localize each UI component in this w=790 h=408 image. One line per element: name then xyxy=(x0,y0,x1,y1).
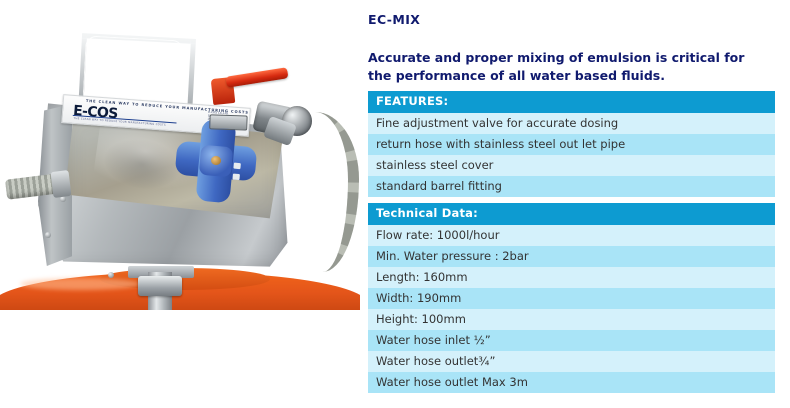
product-photo-stage: THE CLEAN WAY TO REDUCE YOUR MANUFACTURI… xyxy=(0,0,360,310)
valve-tick-mark xyxy=(232,174,239,181)
product-photo: THE CLEAN WAY TO REDUCE YOUR MANUFACTURI… xyxy=(0,0,360,408)
table-row: Min. Water pressure : 2bar xyxy=(368,246,775,267)
body-screw xyxy=(45,232,51,238)
table-row: return hose with stainless steel out let… xyxy=(368,134,775,155)
valve-nameplate xyxy=(209,114,248,130)
body-screw xyxy=(108,272,114,278)
table-row: stainless steel cover xyxy=(368,155,775,176)
table-row: Width: 190mm xyxy=(368,288,775,309)
table-row: Water hose outlet¾” xyxy=(368,351,775,372)
table-row: Length: 160mm xyxy=(368,267,775,288)
orange-barrel-highlight xyxy=(20,278,140,290)
return-hose-corrugation xyxy=(286,112,359,272)
table-row: Flow rate: 1000l/hour xyxy=(368,225,775,246)
barrel-fitting-nut xyxy=(138,276,182,296)
features-table: FEATURES: Fine adjustment valve for accu… xyxy=(368,91,775,197)
technical-data-table: Technical Data: Flow rate: 1000l/hour Mi… xyxy=(368,203,775,393)
blue-butterfly-valve-handle xyxy=(173,117,260,206)
valve-tick-mark xyxy=(233,163,240,170)
page-title: EC-MIX xyxy=(368,12,420,27)
product-spec-page: THE CLEAN WAY TO REDUCE YOUR MANUFACTURI… xyxy=(0,0,790,408)
table-row: Water hose inlet ½” xyxy=(368,330,775,351)
table-row: Height: 100mm xyxy=(368,309,775,330)
technical-data-table-header: Technical Data: xyxy=(368,203,775,225)
table-row: standard barrel fitting xyxy=(368,176,775,197)
spec-panel: EC-MIX Accurate and proper mixing of emu… xyxy=(368,0,780,408)
features-table-header: FEATURES: xyxy=(368,91,775,113)
table-row: Fine adjustment valve for accurate dosin… xyxy=(368,113,775,134)
product-tagline: Accurate and proper mixing of emulsion i… xyxy=(368,49,768,85)
table-row: Water hose outlet Max 3m xyxy=(368,372,775,393)
red-lever-ball-valve-icon xyxy=(226,67,289,88)
water-inlet-hose-collar xyxy=(50,170,71,198)
